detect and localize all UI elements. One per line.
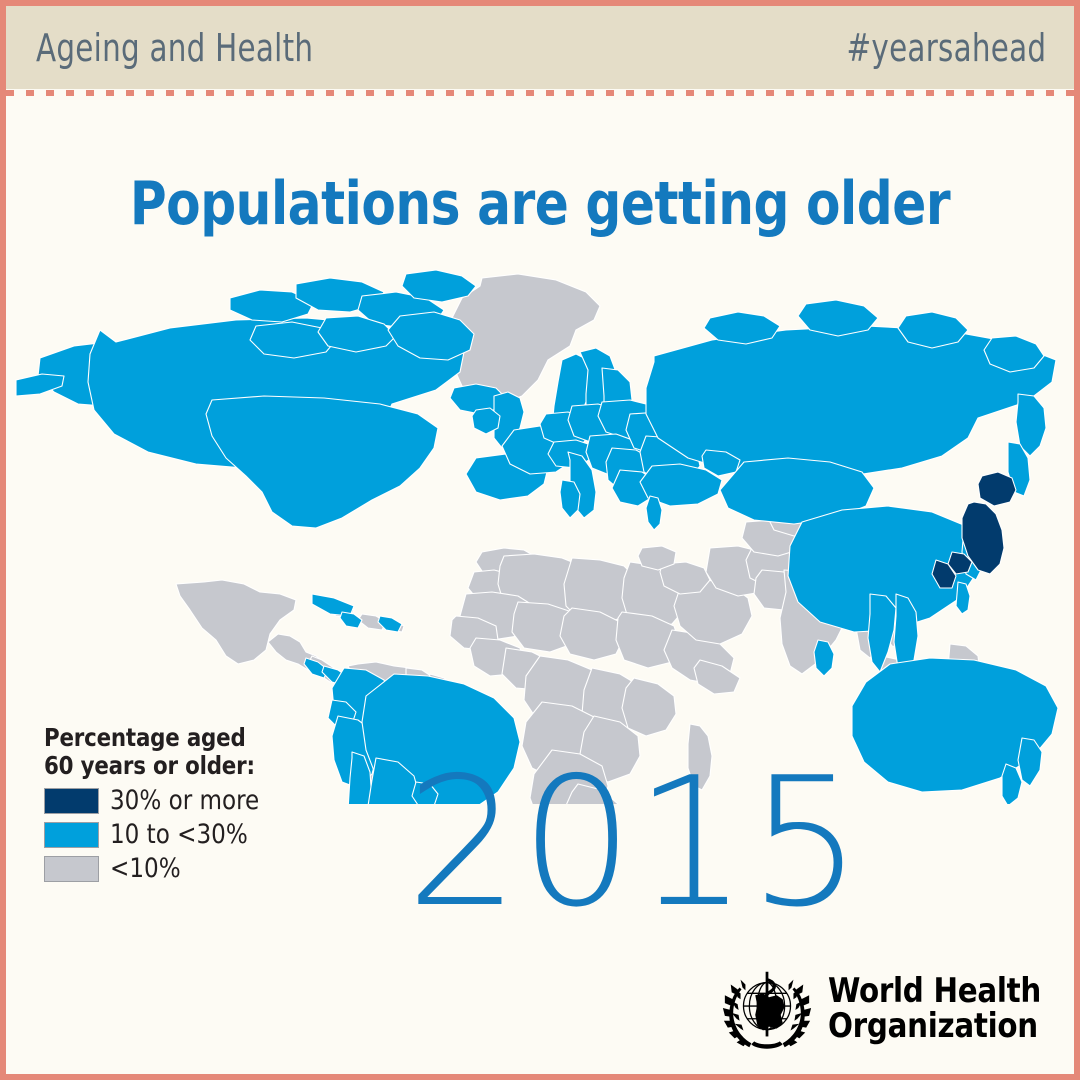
header-bar: Ageing and Health #yearsahead xyxy=(6,6,1074,89)
legend-row-low: <10% xyxy=(44,853,314,884)
legend-title-line2: 60 years or older: xyxy=(44,752,301,780)
who-laurel-right xyxy=(783,980,811,1048)
who-logo: World Health Organization xyxy=(718,960,1050,1058)
series-label: Ageing and Health xyxy=(36,26,313,70)
legend-row-mid: 10 to <30% xyxy=(44,819,314,850)
legend-swatch-mid xyxy=(44,822,99,848)
who-laurel-left xyxy=(723,980,751,1048)
who-wordmark-line2: Organization xyxy=(828,1009,1041,1044)
infographic-poster: Ageing and Health #yearsahead Population… xyxy=(0,0,1080,1080)
legend-swatch-low xyxy=(44,856,99,882)
campaign-hashtag: #yearsahead xyxy=(846,26,1046,70)
who-wordmark-line1: World Health xyxy=(828,974,1041,1009)
who-wreath-base xyxy=(751,1041,782,1048)
dotted-divider xyxy=(6,89,1074,97)
legend-row-high: 30% or more xyxy=(44,785,314,816)
legend-title-line1: Percentage aged xyxy=(44,724,301,752)
page-title: Populations are getting older xyxy=(43,169,1036,239)
legend-label-mid: 10 to <30% xyxy=(110,819,248,850)
who-emblem-icon xyxy=(718,960,816,1058)
legend-swatch-high xyxy=(44,788,99,814)
map-legend: Percentage aged 60 years or older: 30% o… xyxy=(44,724,314,884)
legend-label-high: 30% or more xyxy=(110,785,259,816)
legend-label-low: <10% xyxy=(110,853,181,884)
who-globe-landmass xyxy=(755,993,784,1030)
legend-title: Percentage aged 60 years or older: xyxy=(44,724,301,780)
who-wordmark: World Health Organization xyxy=(828,974,1041,1043)
year-label: 2015 xyxy=(406,754,826,932)
